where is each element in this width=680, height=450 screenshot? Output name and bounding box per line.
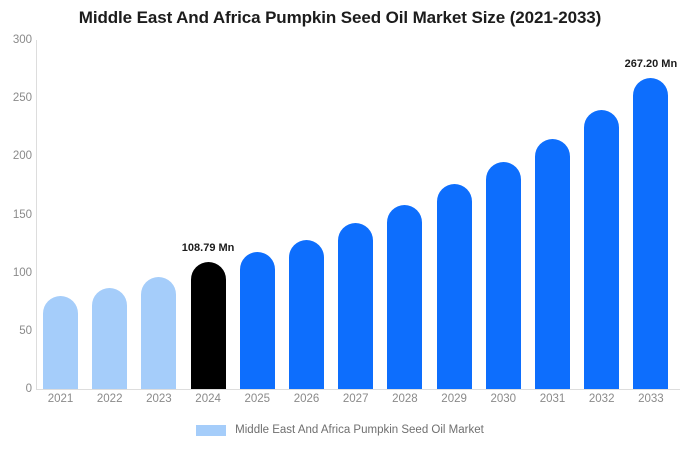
x-axis-tick-label: 2021	[43, 394, 78, 406]
bar-2032[interactable]	[584, 110, 619, 389]
bar-2031[interactable]	[535, 139, 570, 389]
x-axis-tick-label: 2023	[141, 394, 176, 406]
x-axis-tick-label: 2030	[486, 394, 521, 406]
x-axis-tick-label: 2025	[240, 394, 275, 406]
y-axis-tick-label: 250	[2, 93, 32, 105]
x-axis-tick-label: 2026	[289, 394, 324, 406]
x-axis-line	[36, 389, 680, 390]
y-axis-tick-label: 0	[2, 384, 32, 396]
y-axis-tick-label: 300	[2, 35, 32, 47]
x-axis-tick-label: 2022	[92, 394, 127, 406]
chart-legend: Middle East And Africa Pumpkin Seed Oil …	[0, 425, 680, 437]
bar-2024[interactable]	[191, 262, 226, 389]
x-axis-tick-label: 2033	[633, 394, 668, 406]
bar-2028[interactable]	[387, 205, 422, 389]
x-axis-tick-label: 2029	[437, 394, 472, 406]
x-axis-tick-label: 2027	[338, 394, 373, 406]
bar-2025[interactable]	[240, 252, 275, 389]
x-axis-tick-label: 2024	[191, 394, 226, 406]
y-axis-tick-label: 100	[2, 268, 32, 280]
bars-layer	[37, 40, 680, 389]
bar-2029[interactable]	[437, 184, 472, 389]
bar-2027[interactable]	[338, 223, 373, 389]
y-axis-tick-label: 150	[2, 210, 32, 222]
y-axis-tick-labels: 050100150200250300	[0, 0, 32, 450]
bar-2030[interactable]	[486, 162, 521, 389]
bar-2022[interactable]	[92, 288, 127, 389]
bar-2023[interactable]	[141, 277, 176, 389]
x-axis-tick-label: 2031	[535, 394, 570, 406]
legend-swatch-icon	[196, 425, 226, 436]
bar-2033[interactable]	[633, 78, 668, 389]
x-axis-tick-label: 2032	[584, 394, 619, 406]
x-axis-tick-labels: 2021202220232024202520262027202820292030…	[37, 394, 680, 412]
y-axis-tick-label: 50	[2, 326, 32, 338]
bar-2026[interactable]	[289, 240, 324, 389]
bar-2021[interactable]	[43, 296, 78, 389]
chart-container: Middle East And Africa Pumpkin Seed Oil …	[0, 0, 680, 450]
x-axis-tick-label: 2028	[387, 394, 422, 406]
data-label-2033: 267.20 Mn	[625, 59, 678, 70]
chart-title: Middle East And Africa Pumpkin Seed Oil …	[0, 8, 680, 28]
data-label-2024: 108.79 Mn	[182, 243, 235, 254]
y-axis-tick-label: 200	[2, 151, 32, 163]
legend-label: Middle East And Africa Pumpkin Seed Oil …	[235, 425, 484, 437]
